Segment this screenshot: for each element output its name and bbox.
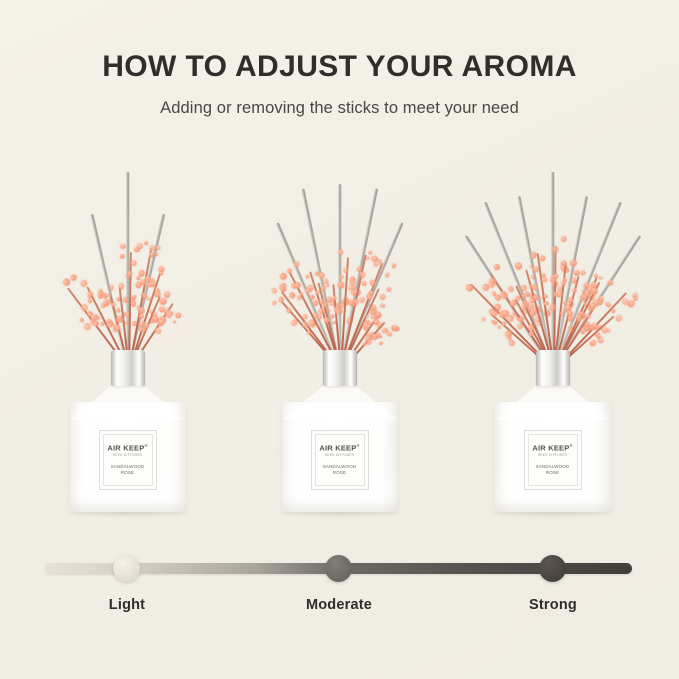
- trademark-mark: ®: [144, 443, 147, 448]
- flower-bloom: [122, 297, 128, 303]
- flower-bloom: [553, 274, 558, 279]
- flower-bloom: [69, 274, 77, 282]
- flower-bloom: [270, 287, 278, 295]
- flower-bloom: [569, 260, 576, 267]
- diffuser-stage: AIR KEEP® REED DIFFUSER SANDALWOODROSE: [445, 150, 660, 520]
- scent-line-1: SANDALWOOD: [323, 464, 356, 469]
- flower-bloom: [543, 301, 548, 306]
- flower-bloom: [496, 324, 501, 329]
- product-light: AIR KEEP® REED DIFFUSER SANDALWOODROSE: [20, 150, 235, 520]
- flower-bloom: [130, 300, 136, 306]
- trademark-mark: ®: [356, 443, 359, 448]
- flower-bloom: [136, 276, 140, 280]
- bottle-label: AIR KEEP® REED DIFFUSER SANDALWOODROSE: [99, 430, 157, 490]
- diffuser-bottle: AIR KEEP® REED DIFFUSER SANDALWOODROSE: [493, 350, 613, 520]
- flower-bloom: [325, 283, 329, 287]
- slider-knob-light[interactable]: [113, 555, 140, 582]
- flower-bloom: [368, 251, 373, 256]
- flower-bloom: [137, 244, 143, 250]
- bottle-label-inner: AIR KEEP® REED DIFFUSER SANDALWOODROSE: [103, 434, 153, 486]
- bottle-collar: [536, 350, 570, 386]
- flower-bloom: [332, 295, 337, 300]
- flower-bloom: [378, 293, 386, 301]
- product-row: AIR KEEP® REED DIFFUSER SANDALWOODROSE: [0, 150, 679, 520]
- flower-bloom: [100, 303, 106, 309]
- flower-bloom: [342, 268, 347, 273]
- flower-bloom: [173, 311, 182, 320]
- scent-line-1: SANDALWOOD: [111, 464, 144, 469]
- flower-bloom: [358, 297, 365, 304]
- flower-bloom: [379, 302, 385, 308]
- flower-bloom: [278, 271, 287, 280]
- flower-bloom: [158, 297, 167, 306]
- flower-bloom: [137, 269, 145, 277]
- infographic-page: HOW TO ADJUST YOUR AROMA Adding or remov…: [0, 0, 679, 679]
- flower-bloom: [365, 257, 369, 261]
- scent-name: SANDALWOODROSE: [111, 464, 144, 476]
- flower-bloom: [143, 240, 148, 245]
- flower-bloom: [120, 244, 125, 249]
- slider-label-light: Light: [57, 597, 197, 613]
- brand-text: AIR KEEP: [532, 443, 569, 452]
- scent-name: SANDALWOODROSE: [323, 464, 356, 476]
- header: HOW TO ADJUST YOUR AROMA Adding or remov…: [0, 0, 679, 118]
- flower-bloom: [172, 320, 177, 325]
- scent-name: SANDALWOODROSE: [536, 464, 569, 476]
- flower-bloom: [532, 266, 539, 273]
- flower-bloom: [347, 299, 354, 306]
- flower-bloom: [560, 236, 567, 243]
- brand-name: AIR KEEP®: [107, 444, 147, 452]
- flower-bloom: [86, 299, 92, 305]
- flower-bloom: [61, 278, 70, 287]
- diffuser-stage: AIR KEEP® REED DIFFUSER SANDALWOODROSE: [232, 150, 447, 520]
- brand-name: AIR KEEP®: [532, 444, 572, 452]
- bottle-label: AIR KEEP® REED DIFFUSER SANDALWOODROSE: [524, 430, 582, 490]
- flower-bloom: [516, 323, 523, 330]
- flower-bloom: [99, 321, 105, 327]
- bottle-label: AIR KEEP® REED DIFFUSER SANDALWOODROSE: [311, 430, 369, 490]
- brand-tagline: REED DIFFUSER: [325, 454, 355, 457]
- flower-bloom: [579, 270, 586, 277]
- flower-bloom: [108, 285, 113, 290]
- flower-bloom: [372, 261, 379, 268]
- slider-label-moderate: Moderate: [269, 597, 409, 613]
- flower-bloom: [552, 246, 558, 252]
- brand-name: AIR KEEP®: [319, 444, 359, 452]
- flower-bloom: [154, 251, 158, 255]
- flower-bloom: [305, 274, 310, 279]
- bottle-label-inner: AIR KEEP® REED DIFFUSER SANDALWOODROSE: [315, 434, 365, 486]
- flower-bloom: [286, 267, 293, 274]
- flower-bloom: [131, 294, 136, 299]
- bottle-collar: [111, 350, 145, 386]
- flower-bloom: [337, 281, 344, 288]
- flower-bloom: [391, 263, 397, 269]
- flower-bloom: [385, 286, 391, 292]
- intensity-slider[interactable]: Light Moderate Strong: [0, 545, 679, 645]
- flower-bloom: [480, 317, 485, 322]
- diffuser-stage: AIR KEEP® REED DIFFUSER SANDALWOODROSE: [20, 150, 235, 520]
- bottle-label-inner: AIR KEEP® REED DIFFUSER SANDALWOODROSE: [528, 434, 578, 486]
- flower-bloom: [117, 315, 122, 320]
- brand-tagline: REED DIFFUSER: [538, 454, 568, 457]
- flower-bloom: [548, 303, 555, 310]
- flower-bloom: [127, 271, 132, 276]
- flower-bloom: [614, 313, 624, 323]
- flower-bloom: [493, 264, 500, 271]
- scent-line-1: SANDALWOOD: [536, 464, 569, 469]
- slider-knob-strong[interactable]: [539, 555, 566, 582]
- brand-text: AIR KEEP: [319, 443, 356, 452]
- flower-bloom: [149, 252, 154, 257]
- scent-line-2: ROSE: [121, 470, 134, 475]
- flower-bloom: [158, 271, 163, 276]
- flower-bloom: [288, 292, 296, 300]
- flower-bloom: [361, 281, 367, 287]
- flower-bloom: [115, 326, 120, 331]
- flower-bloom: [384, 272, 390, 278]
- scent-line-2: ROSE: [546, 470, 559, 475]
- diffuser-bottle: AIR KEEP® REED DIFFUSER SANDALWOODROSE: [280, 350, 400, 520]
- slider-label-strong: Strong: [483, 597, 623, 613]
- flower-bloom: [532, 294, 539, 301]
- flower-bloom: [329, 314, 334, 319]
- brand-tagline: REED DIFFUSER: [113, 454, 143, 457]
- product-moderate: AIR KEEP® REED DIFFUSER SANDALWOODROSE: [232, 150, 447, 520]
- scent-line-2: ROSE: [333, 470, 346, 475]
- flower-bloom: [270, 300, 277, 307]
- flower-bloom: [562, 278, 566, 282]
- brand-text: AIR KEEP: [107, 443, 144, 452]
- trademark-mark: ®: [569, 443, 572, 448]
- flower-bloom: [119, 254, 124, 259]
- flower-bloom: [154, 244, 160, 250]
- bottle-collar: [323, 350, 357, 386]
- flower-bloom: [541, 277, 547, 283]
- flower-bloom: [79, 318, 84, 323]
- diffuser-bottle: AIR KEEP® REED DIFFUSER SANDALWOODROSE: [68, 350, 188, 520]
- flower-bloom: [378, 341, 383, 346]
- product-strong: AIR KEEP® REED DIFFUSER SANDALWOODROSE: [445, 150, 660, 520]
- flower-bloom: [326, 296, 332, 302]
- flower-bloom: [507, 285, 515, 293]
- page-subtitle: Adding or removing the sticks to meet yo…: [0, 83, 679, 118]
- flower-bloom: [92, 320, 99, 327]
- page-title: HOW TO ADJUST YOUR AROMA: [0, 0, 679, 83]
- slider-knob-moderate[interactable]: [325, 555, 352, 582]
